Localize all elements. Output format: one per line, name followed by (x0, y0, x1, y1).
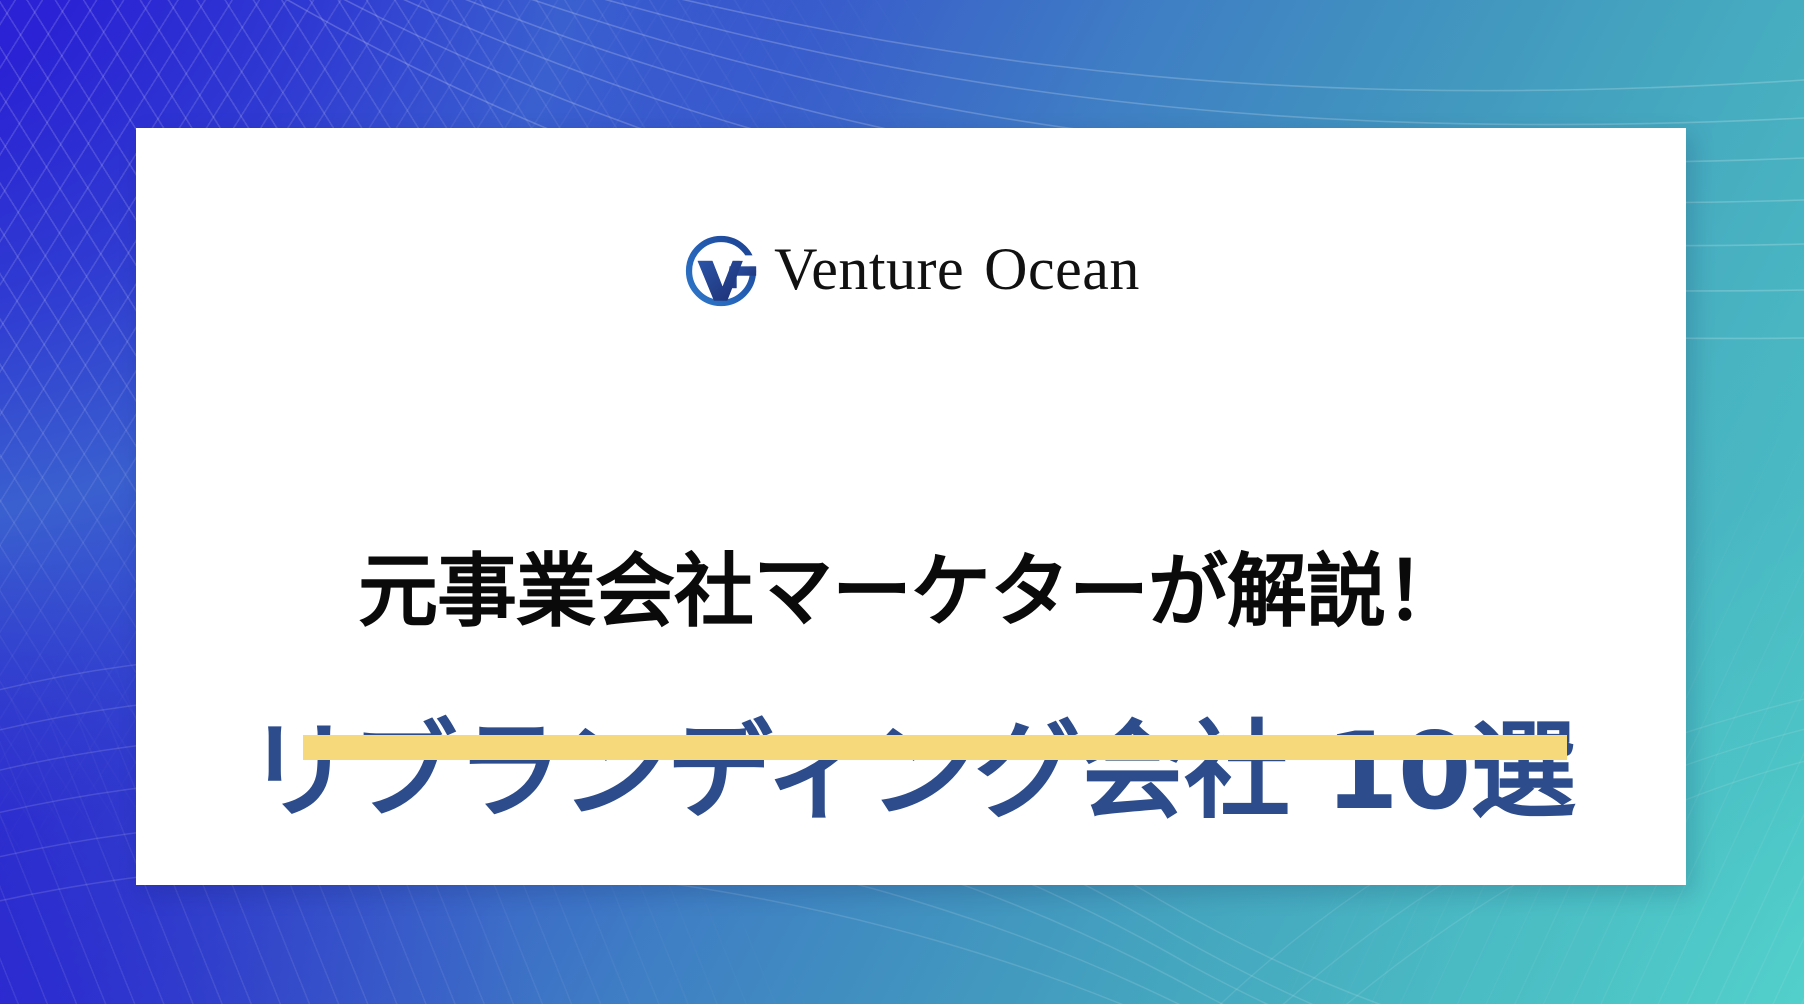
title-underline-bar (303, 735, 1567, 760)
slide-canvas: VentureOcean 元事業会社マーケターが解説！ リブランディング会社 1… (0, 0, 1804, 1004)
brand-wordmark-part2: Ocean (984, 236, 1140, 302)
subheading-text: 元事業会社マーケターが解説！ (136, 548, 1686, 636)
brand-wordmark-part1: Venture (774, 236, 964, 302)
main-title-text: リブランディング会社 10選 (136, 714, 1686, 831)
venture-ocean-circle-v-logo-icon (682, 232, 760, 310)
brand-wordmark: VentureOcean (774, 239, 1140, 303)
brand-logo: VentureOcean (136, 232, 1686, 310)
content-card: VentureOcean 元事業会社マーケターが解説！ リブランディング会社 1… (136, 128, 1686, 885)
